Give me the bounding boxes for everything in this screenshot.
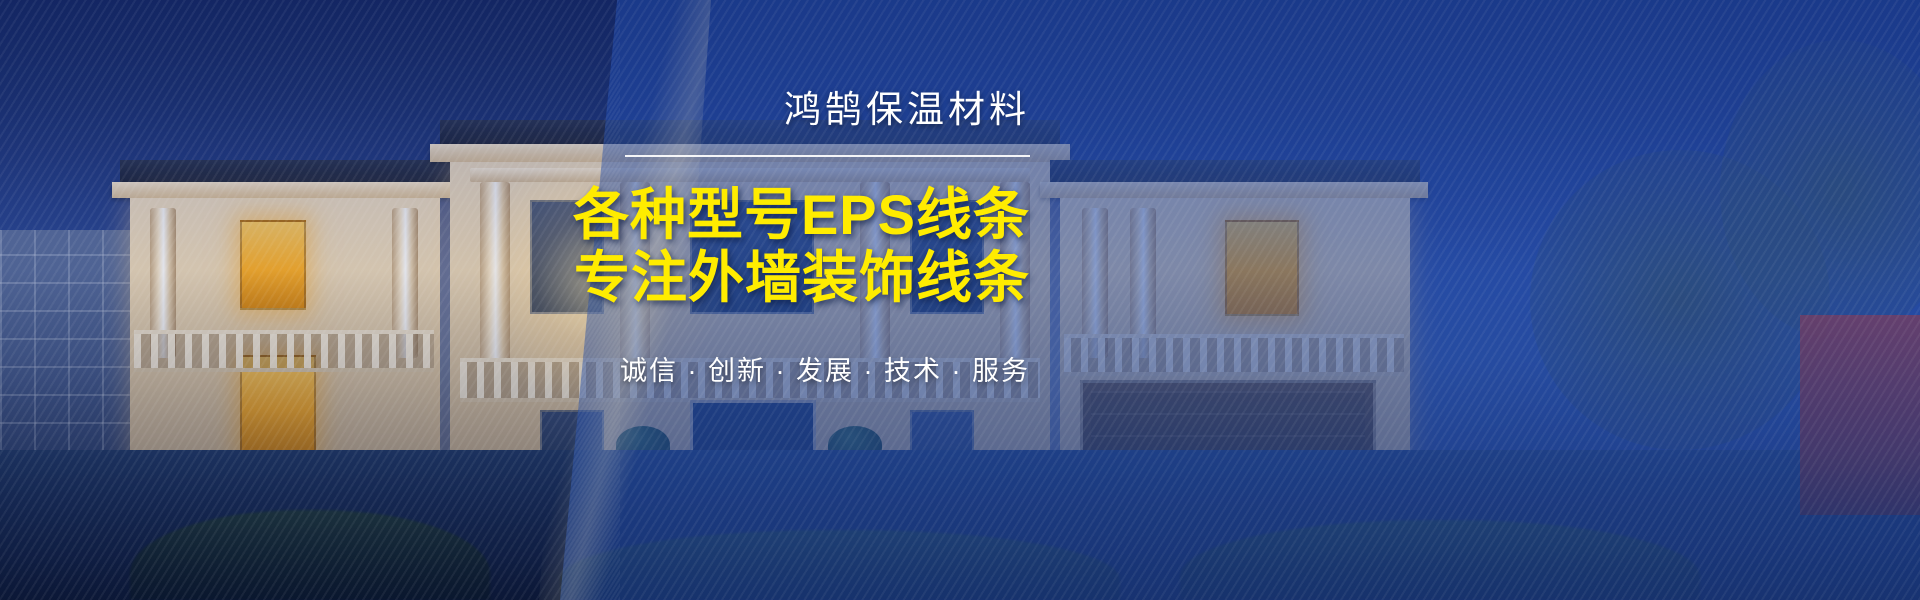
tagline: 诚信 · 创新 · 发展 · 技术 · 服务: [560, 349, 1030, 388]
left-wing-roof: [120, 160, 450, 184]
left-wing-window-upper: [240, 220, 306, 310]
center-column-1: [480, 182, 510, 362]
brand-name: 鸿鹄保温材料: [560, 90, 1030, 131]
banner-text-block: 鸿鹄保温材料 各种型号EPS线条 专注外墙装饰线条 诚信 · 创新 · 发展 ·…: [560, 90, 1030, 388]
headline: 各种型号EPS线条 专注外墙装饰线条: [560, 183, 1030, 310]
left-wing-balustrade: [134, 330, 434, 372]
headline-line-2: 专注外墙装饰线条: [560, 246, 1030, 309]
left-wing-cornice: [112, 182, 458, 198]
divider-rule: [625, 155, 1030, 157]
hero-banner: 鸿鹄保温材料 各种型号EPS线条 专注外墙装饰线条 诚信 · 创新 · 发展 ·…: [0, 0, 1920, 600]
headline-line-1: 各种型号EPS线条: [560, 183, 1030, 246]
